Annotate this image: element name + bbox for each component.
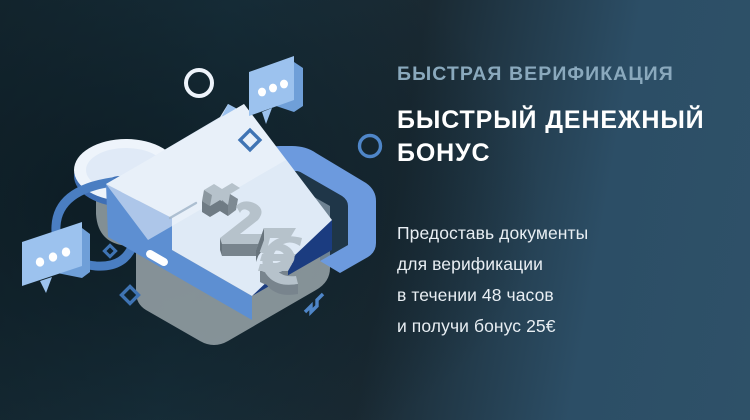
chat-dot: [258, 88, 266, 97]
chat-dot: [36, 257, 44, 266]
chat-bubble-left: [22, 222, 90, 293]
ring-white-icon: [186, 70, 212, 96]
illustration-area: [0, 0, 420, 420]
padlock-illustration: [0, 0, 420, 420]
zigzag-blue-icon: [305, 294, 323, 312]
body-line-2: для верификации: [397, 249, 697, 280]
body-line-3: в течении 48 часов: [397, 280, 697, 311]
diamond-blue-bottom-icon: [122, 287, 139, 304]
diamond-blue-left-icon: [104, 245, 115, 256]
body-line-1: Предоставь документы: [397, 218, 697, 249]
ring-blue-icon: [360, 136, 381, 157]
chat-dot: [62, 247, 70, 256]
body-line-4: и получи бонус 25€: [397, 311, 697, 342]
promo-banner: БЫСТРАЯ ВЕРИФИКАЦИЯ БЫСТРЫЙ ДЕНЕЖНЫЙ БОН…: [0, 0, 750, 420]
headline: БЫСТРЫЙ ДЕНЕЖНЫЙ БОНУС: [397, 104, 717, 171]
chat-bubble-top: [249, 56, 303, 124]
kicker-text: БЫСТРАЯ ВЕРИФИКАЦИЯ: [397, 63, 674, 86]
copy-block: БЫСТРАЯ ВЕРИФИКАЦИЯ БЫСТРЫЙ ДЕНЕЖНЫЙ БОН…: [397, 0, 727, 420]
body-text: Предоставь документы для верификации в т…: [397, 218, 697, 342]
headline-line-2: БОНУС: [397, 137, 717, 170]
headline-line-1: БЫСТРЫЙ ДЕНЕЖНЫЙ: [397, 104, 717, 137]
chat-dot: [269, 84, 277, 93]
chat-dot: [49, 252, 57, 261]
chat-dot: [280, 80, 288, 89]
